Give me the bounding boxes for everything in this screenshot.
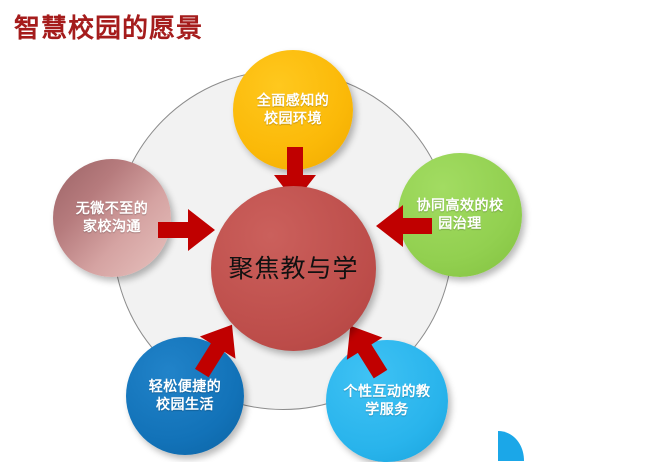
node-top-label-line2: 校园环境	[264, 110, 322, 126]
corner-swoosh-decoration	[498, 431, 524, 461]
node-left-label-line2: 家校沟通	[83, 218, 141, 234]
node-right-label-line2: 园治理	[438, 215, 482, 231]
node-bottom-right-label-line1: 个性互动的教	[344, 383, 431, 399]
node-top-label-line1: 全面感知的	[257, 92, 330, 108]
node-center-label: 聚焦教与学	[222, 253, 364, 285]
node-bottom-left-label: 轻松便捷的 校园生活	[143, 378, 228, 414]
node-bottom-left-label-line2: 校园生活	[156, 396, 214, 412]
node-left-home-school-communication[interactable]: 无微不至的 家校沟通	[53, 159, 171, 277]
node-bottom-left-label-line1: 轻松便捷的	[149, 378, 222, 394]
node-bottom-right-label: 个性互动的教 学服务	[338, 383, 437, 419]
vision-diagram: 全面感知的 校园环境 无微不至的 家校沟通 协同高效的校 园治理 轻松便捷的 校…	[0, 55, 665, 461]
node-left-label: 无微不至的 家校沟通	[70, 200, 155, 236]
node-bottom-right-label-line2: 学服务	[365, 401, 409, 417]
arrow-left-right-icon	[158, 207, 216, 253]
node-center-focus-on-teaching-and-learning[interactable]: 聚焦教与学	[211, 186, 376, 351]
node-top-label: 全面感知的 校园环境	[251, 92, 336, 128]
arrow-right-left-icon	[375, 203, 433, 249]
page-title: 智慧校园的愿景	[14, 13, 203, 44]
node-left-label-line1: 无微不至的	[76, 200, 149, 216]
